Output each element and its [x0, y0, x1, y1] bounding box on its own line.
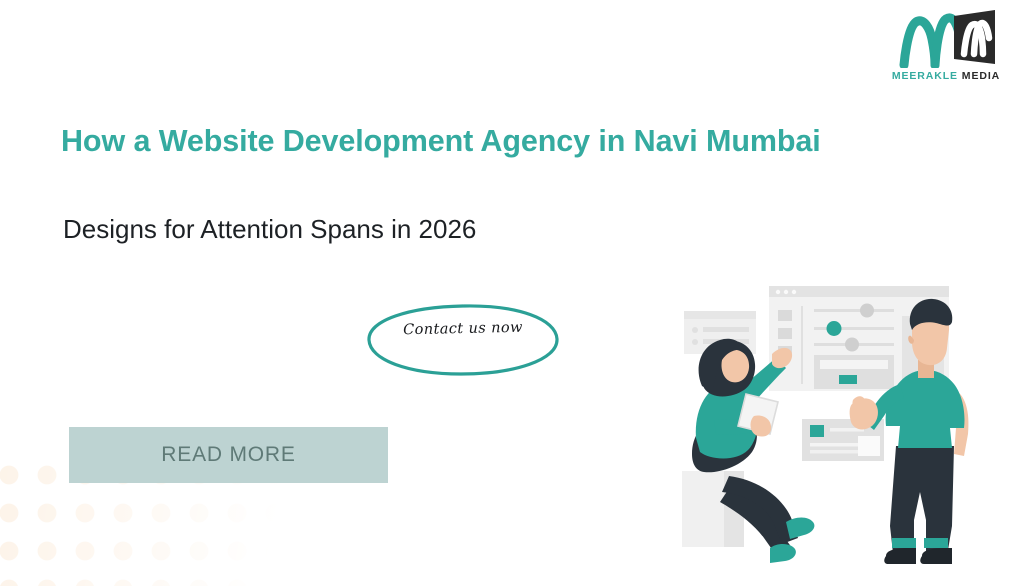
contact-us-badge[interactable]: Contact us now [360, 300, 566, 380]
meerakle-m-monogram-icon [894, 8, 998, 68]
team-reviewing-website-wireframes-illustration [674, 276, 1024, 576]
brand-wordmark: MEERAKLE MEDIA [886, 71, 1006, 82]
read-more-button[interactable]: READ MORE [69, 427, 388, 483]
brand-logo: MEERAKLE MEDIA [886, 8, 1006, 82]
contact-us-label: Contact us now [360, 316, 566, 343]
page-subtitle: Designs for Attention Spans in 2026 [63, 213, 763, 247]
wordmark-primary: MEERAKLE [892, 70, 958, 82]
wordmark-secondary: MEDIA [962, 70, 1000, 82]
page-title: How a Website Development Agency in Navi… [61, 120, 861, 164]
